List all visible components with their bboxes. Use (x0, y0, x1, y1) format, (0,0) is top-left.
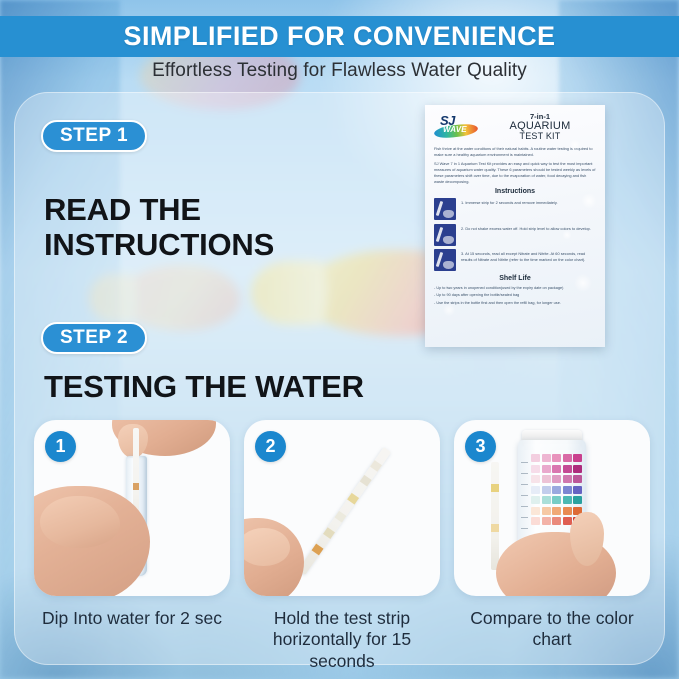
color-chart-row (531, 475, 584, 483)
step-2-heading: TESTING THE WATER (44, 369, 444, 404)
immerse-strip-icon (434, 198, 456, 220)
strip-pad (360, 475, 372, 487)
strip-pad (491, 524, 499, 532)
panel-2-number-badge: 2 (255, 431, 286, 462)
kit-title-line3: TEST KIT (484, 132, 596, 141)
step-panel-3-image: 3 (454, 420, 650, 596)
step-panel-3: 3 (454, 420, 650, 672)
color-chart-row (531, 465, 584, 473)
logo-wave-text: WAVE (443, 126, 467, 134)
shelf-life-item: Up to 90 days after opening the bottle/s… (434, 292, 596, 298)
kit-title: 7-in-1 AQUARIUM TEST KIT (484, 113, 596, 142)
strip-pad (133, 483, 139, 490)
step-1-heading: READ THE INSTRUCTIONS (44, 192, 374, 263)
instruction-sheet: SJ WAVE 7-in-1 AQUARIUM TEST KIT Fish th… (425, 105, 605, 347)
hold-strip-level-icon (434, 224, 456, 246)
panel-3-caption: Compare to the color chart (454, 608, 650, 651)
instruction-text: 1. Immerse strip for 2 seconds and remov… (461, 198, 558, 206)
sheet-header: SJ WAVE 7-in-1 AQUARIUM TEST KIT (434, 113, 596, 142)
color-chart-row (531, 496, 584, 504)
shelf-life-item: Use the strips in the bottle first and t… (434, 300, 596, 306)
panel-3-number-badge: 3 (465, 431, 496, 462)
shelf-life-item: Up to two years in unopened condition(us… (434, 285, 596, 291)
sheet-paragraph-2: SJ Wave 7 in 1 Aquarium Test Kit provide… (434, 161, 596, 185)
color-chart-row (531, 486, 584, 494)
panel-1-number-badge: 1 (45, 431, 76, 462)
step-panel-1: 1 Dip Into water for 2 sec (34, 420, 230, 672)
strip-pad (335, 511, 347, 523)
instruction-row: 2. Do not shake excess water off. Hold s… (434, 224, 596, 246)
steps-panel-row: 1 Dip Into water for 2 sec 2 (34, 420, 649, 672)
color-chart-row (531, 454, 584, 462)
step-2-badge: STEP 2 (41, 322, 147, 354)
step-panel-2: 2 Hold the test strip horizontally for 1… (244, 420, 440, 672)
shelf-life-list: Up to two years in unopened condition(us… (434, 285, 596, 306)
shelf-life-title: Shelf Life (434, 275, 596, 282)
strip-pad (323, 527, 335, 539)
instruction-row: 3. At 15 seconds, read all except Nitrat… (434, 249, 596, 271)
header-band: SIMPLIFIED FOR CONVENIENCE (0, 16, 679, 57)
strip-pad (347, 493, 359, 505)
instruction-text: 2. Do not shake excess water off. Hold s… (461, 224, 591, 232)
step-panel-1-image: 1 (34, 420, 230, 596)
instructions-title: Instructions (434, 188, 596, 195)
read-results-icon (434, 249, 456, 271)
page-title: SIMPLIFIED FOR CONVENIENCE (124, 23, 556, 50)
panel-1-caption: Dip Into water for 2 sec (34, 608, 230, 629)
strip-pad (370, 460, 382, 472)
panel-2-caption: Hold the test strip horizontally for 15 … (244, 608, 440, 672)
diagonal-strip-group (282, 430, 432, 590)
instruction-row: 1. Immerse strip for 2 seconds and remov… (434, 198, 596, 220)
test-strip-illustration (491, 462, 499, 570)
color-chart-row (531, 507, 584, 515)
lower-thumb-illustration (40, 496, 120, 548)
strip-pad (491, 484, 499, 492)
step-1-badge: STEP 1 (41, 120, 147, 152)
sj-wave-logo: SJ WAVE (434, 114, 478, 140)
page-subtitle: Effortless Testing for Flawless Water Qu… (0, 60, 679, 82)
step-panel-2-image: 2 (244, 420, 440, 596)
instruction-text: 3. At 15 seconds, read all except Nitrat… (461, 249, 596, 264)
strip-pad (312, 544, 324, 556)
sheet-paragraph-1: Fish thrive at the water conditons of th… (434, 146, 596, 158)
test-strip-illustration (298, 447, 391, 575)
